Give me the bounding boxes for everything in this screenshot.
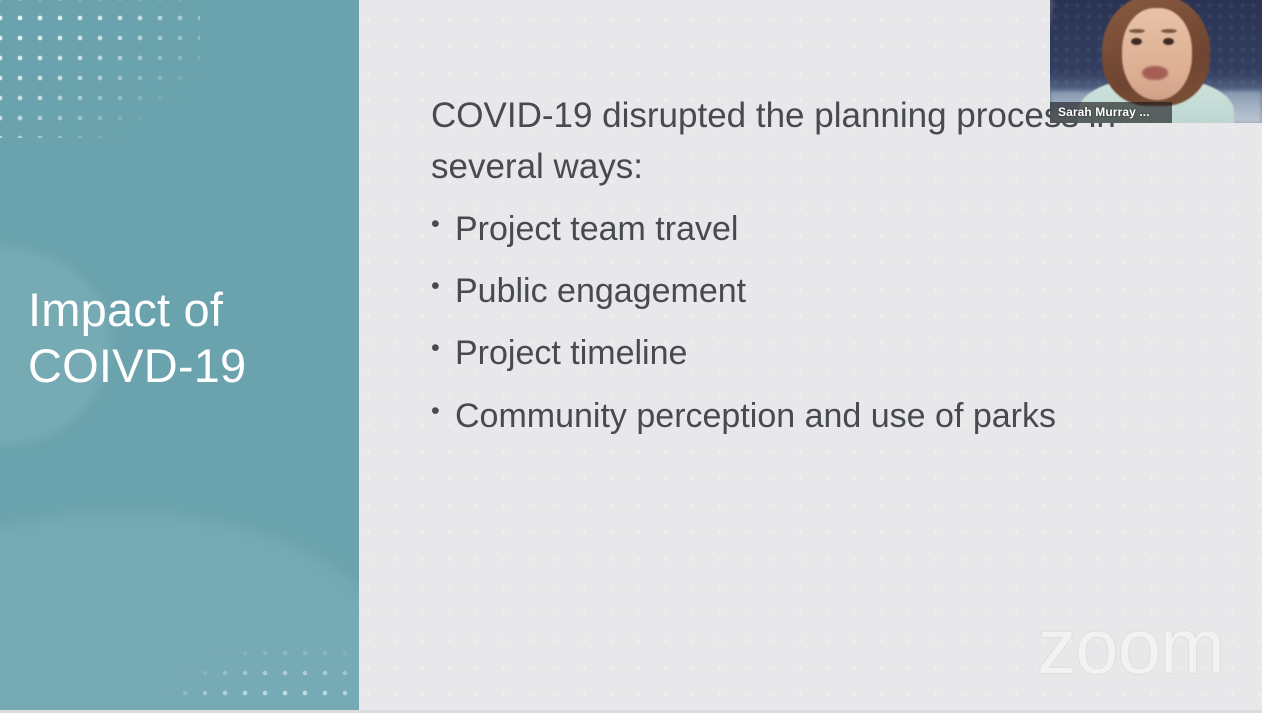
zoom-screenshare-stage: Impact of COIVD-19 COVID-19 disrupted th… [0,0,1262,713]
participant-video-tile[interactable]: Sarah Murray ... [1050,0,1262,123]
list-item: Project timeline [429,331,1219,376]
participant-face [1122,8,1192,100]
participant-eye-right [1163,38,1174,45]
participant-eyebrow-right [1161,29,1177,33]
zoom-watermark-logo: zoom [1037,607,1224,685]
slide-title-panel: Impact of COIVD-19 [0,0,359,713]
list-item: Community perception and use of parks [429,394,1219,439]
participant-eye-left [1131,38,1142,45]
list-item: Public engagement [429,269,1219,314]
slide-title: Impact of COIVD-19 [28,282,348,394]
participant-eyebrow-left [1129,29,1145,33]
list-item: Project team travel [429,207,1219,252]
slide-bullet-list: Project team travel Public engagement Pr… [429,207,1219,456]
participant-mouth [1142,66,1168,80]
dot-pattern-top-left [0,0,200,138]
participant-name-badge: Sarah Murray ... [1050,102,1172,123]
dot-pattern-bottom-right [55,563,359,713]
